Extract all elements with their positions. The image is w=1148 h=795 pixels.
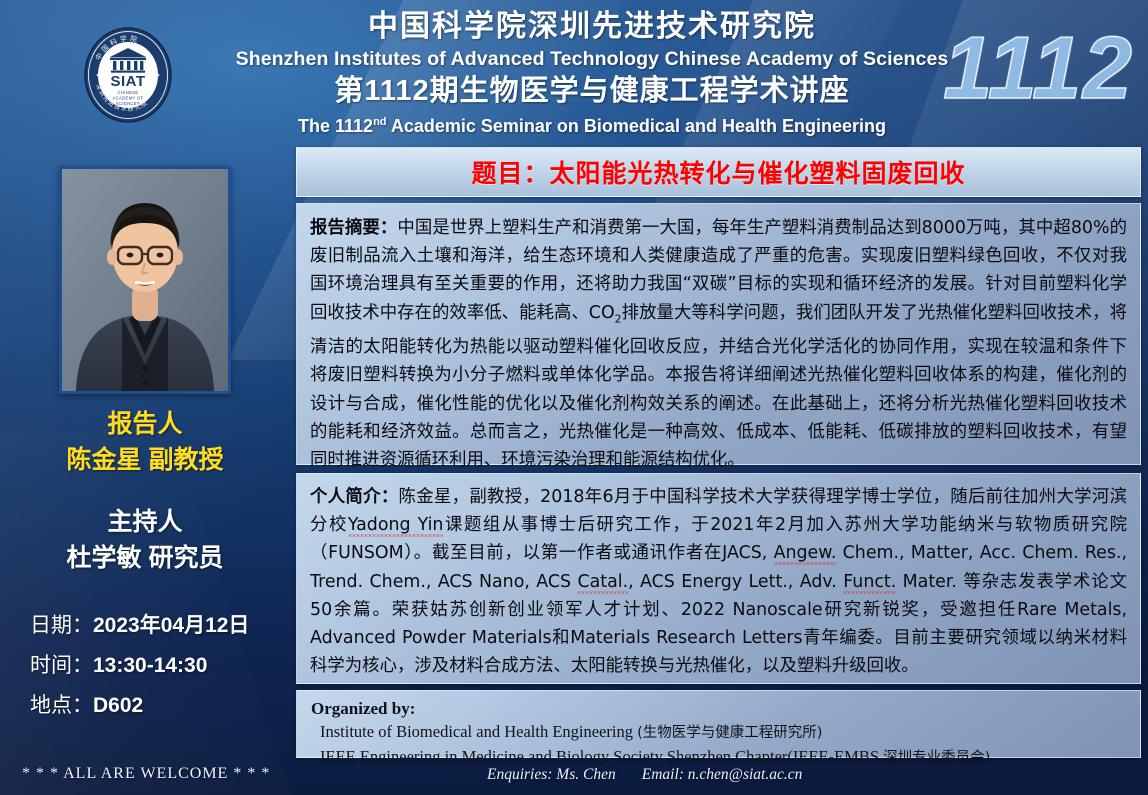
svg-text:ACADEMY OF: ACADEMY OF <box>113 96 144 101</box>
poster-header: SIAT CHINESE ACADEMY OF SCIENCES 中国科学院 深… <box>0 0 1148 146</box>
co2-subscript: 2 <box>615 312 622 325</box>
header-headline-group: 中国科学院深圳先进技术研究院 Shenzhen Institutes of Ad… <box>186 8 998 138</box>
organizer-2-cn: 深圳专业委员会) <box>883 750 990 766</box>
seminar-title-cn: 第1112期生物医学与健康工程学术讲座 <box>186 72 998 110</box>
organizer-1-en: Institute of Biomedical and Health Engin… <box>320 722 637 741</box>
organizer-line-1: Institute of Biomedical and Health Engin… <box>311 720 1126 745</box>
enquiries-text: Enquiries: Ms. Chen <box>487 766 616 783</box>
event-location-value: D602 <box>93 694 143 717</box>
speaker-block: 报告人 陈金星 副教授 <box>0 406 290 478</box>
event-date-value: 2023年04月12日 <box>93 614 249 637</box>
logo-acronym-text: SIAT <box>110 73 145 90</box>
siat-logo: SIAT CHINESE ACADEMY OF SCIENCES 中国科学院 深… <box>82 26 174 124</box>
organizer-2-en: IEEE Engineering in Medicine and Biology… <box>320 747 883 766</box>
event-date-row: 日期：2023年04月12日 <box>30 606 290 646</box>
organizers-panel: Organized by: Institute of Biomedical an… <box>296 690 1141 758</box>
event-location-row: 地点：D602 <box>30 686 290 726</box>
organizer-1-cn: (生物医学与健康工程研究所) <box>637 725 822 741</box>
spellcheck-word-angew: Angew. <box>774 543 837 565</box>
abstract-panel: 报告摘要：中国是世界上塑料生产和消费第一大国，每年生产塑料消费制品达到8000万… <box>296 203 1141 465</box>
event-time-row: 时间：13:30-14:30 <box>30 646 290 686</box>
svg-text:CHINESE: CHINESE <box>118 90 139 95</box>
talk-title: 题目：太阳能光热转化与催化塑料固废回收 <box>471 154 965 190</box>
speaker-name: 陈金星 副教授 <box>0 442 290 478</box>
all-are-welcome-text: * * * ALL ARE WELCOME * * * <box>22 765 270 783</box>
biography-text: 个人简介：陈金星，副教授，2018年6月于中国科学技术大学获得理学博士学位，随后… <box>310 483 1127 680</box>
spellcheck-word-funct: Funct. <box>843 572 896 594</box>
spellcheck-word-yadong-yin: Yadong Yin <box>348 515 444 537</box>
seminar-en-suffix: Academic Seminar on Biomedical and Healt… <box>387 116 886 136</box>
event-date-label: 日期： <box>30 614 93 637</box>
organized-by-heading: Organized by: <box>311 697 1126 720</box>
institute-name-cn: 中国科学院深圳先进技术研究院 <box>186 8 998 46</box>
talk-title-panel: 题目：太阳能光热转化与催化塑料固废回收 <box>296 147 1141 197</box>
issue-number-watermark: 1112 <box>943 24 1134 112</box>
contact-email[interactable]: Email: n.chen@siat.ac.cn <box>642 766 803 783</box>
seminar-poster: SIAT CHINESE ACADEMY OF SCIENCES 中国科学院 深… <box>0 0 1148 795</box>
event-time-value: 13:30-14:30 <box>93 654 207 677</box>
abstract-text: 报告摘要：中国是世界上塑料生产和消费第一大国，每年生产塑料消费制品达到8000万… <box>310 214 1127 474</box>
spellcheck-word-catal: Catal. <box>577 572 628 594</box>
abstract-part-2: 排放量大等科学问题，我们团队开发了光热催化塑料回收技术，将清洁的太阳能转化为热能… <box>310 303 1127 470</box>
event-details: 日期：2023年04月12日 时间：13:30-14:30 地点：D602 <box>0 606 290 726</box>
host-block: 主持人 杜学敏 研究员 <box>0 504 290 576</box>
speaker-role-label: 报告人 <box>0 406 290 442</box>
host-role-label: 主持人 <box>0 504 290 540</box>
event-location-label: 地点： <box>30 694 93 717</box>
host-name: 杜学敏 研究员 <box>0 540 290 576</box>
seminar-en-prefix: The 1112 <box>298 116 373 136</box>
institute-name-en: Shenzhen Institutes of Advanced Technolo… <box>186 46 998 72</box>
biography-label: 个人简介： <box>310 487 399 507</box>
seminar-en-ordinal: nd <box>373 116 386 128</box>
bio-segment-4: , ACS Energy Lett., Adv. <box>628 572 843 592</box>
biography-panel: 个人简介：陈金星，副教授，2018年6月于中国科学技术大学获得理学博士学位，随后… <box>296 473 1141 684</box>
event-time-label: 时间： <box>30 654 93 677</box>
seminar-title-en: The 1112nd Academic Seminar on Biomedica… <box>186 110 998 138</box>
left-info-column: 报告人 陈金星 副教授 主持人 杜学敏 研究员 日期：2023年04月12日 时… <box>0 150 290 750</box>
footer-contact: Enquiries: Ms. ChenEmail: n.chen@siat.ac… <box>487 766 802 784</box>
abstract-label: 报告摘要： <box>310 218 397 238</box>
speaker-photo <box>59 166 231 394</box>
